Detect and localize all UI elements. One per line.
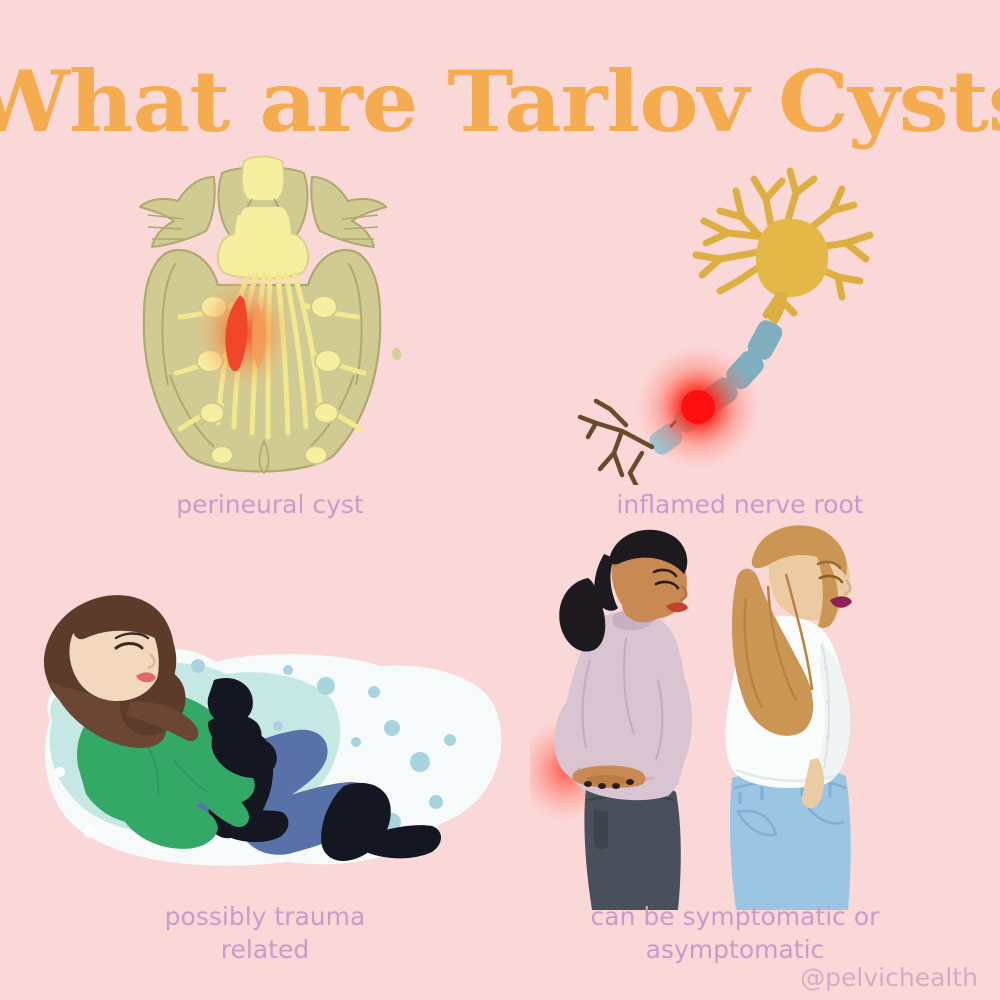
caption-possibly-trauma-related: possibly trauma related (50, 900, 480, 966)
caption-line-1: can be symptomatic or (510, 900, 960, 933)
caption-line-1: possibly trauma (50, 900, 480, 933)
infographic-poster: What are Tarlov Cysts? (0, 0, 1000, 1000)
caption-line-2: related (50, 933, 480, 966)
stray-speck (392, 348, 401, 360)
two-women-standing-illustration (530, 520, 890, 910)
caption-inflamed-nerve-root: inflamed nerve root (520, 488, 960, 521)
caption-symptomatic-or-asymptomatic: can be symptomatic or asymptomatic (510, 900, 960, 966)
caption-line-2: asymptomatic (510, 933, 960, 966)
woman-fallen-on-snow-illustration (20, 570, 520, 900)
social-handle: @pelvichealth (800, 963, 978, 992)
page-title: What are Tarlov Cysts? (0, 58, 1000, 146)
caption-perineural-cyst: perineural cyst (60, 488, 480, 521)
neuron-illustration (570, 155, 900, 485)
sacrum-cyst-illustration (118, 155, 408, 475)
